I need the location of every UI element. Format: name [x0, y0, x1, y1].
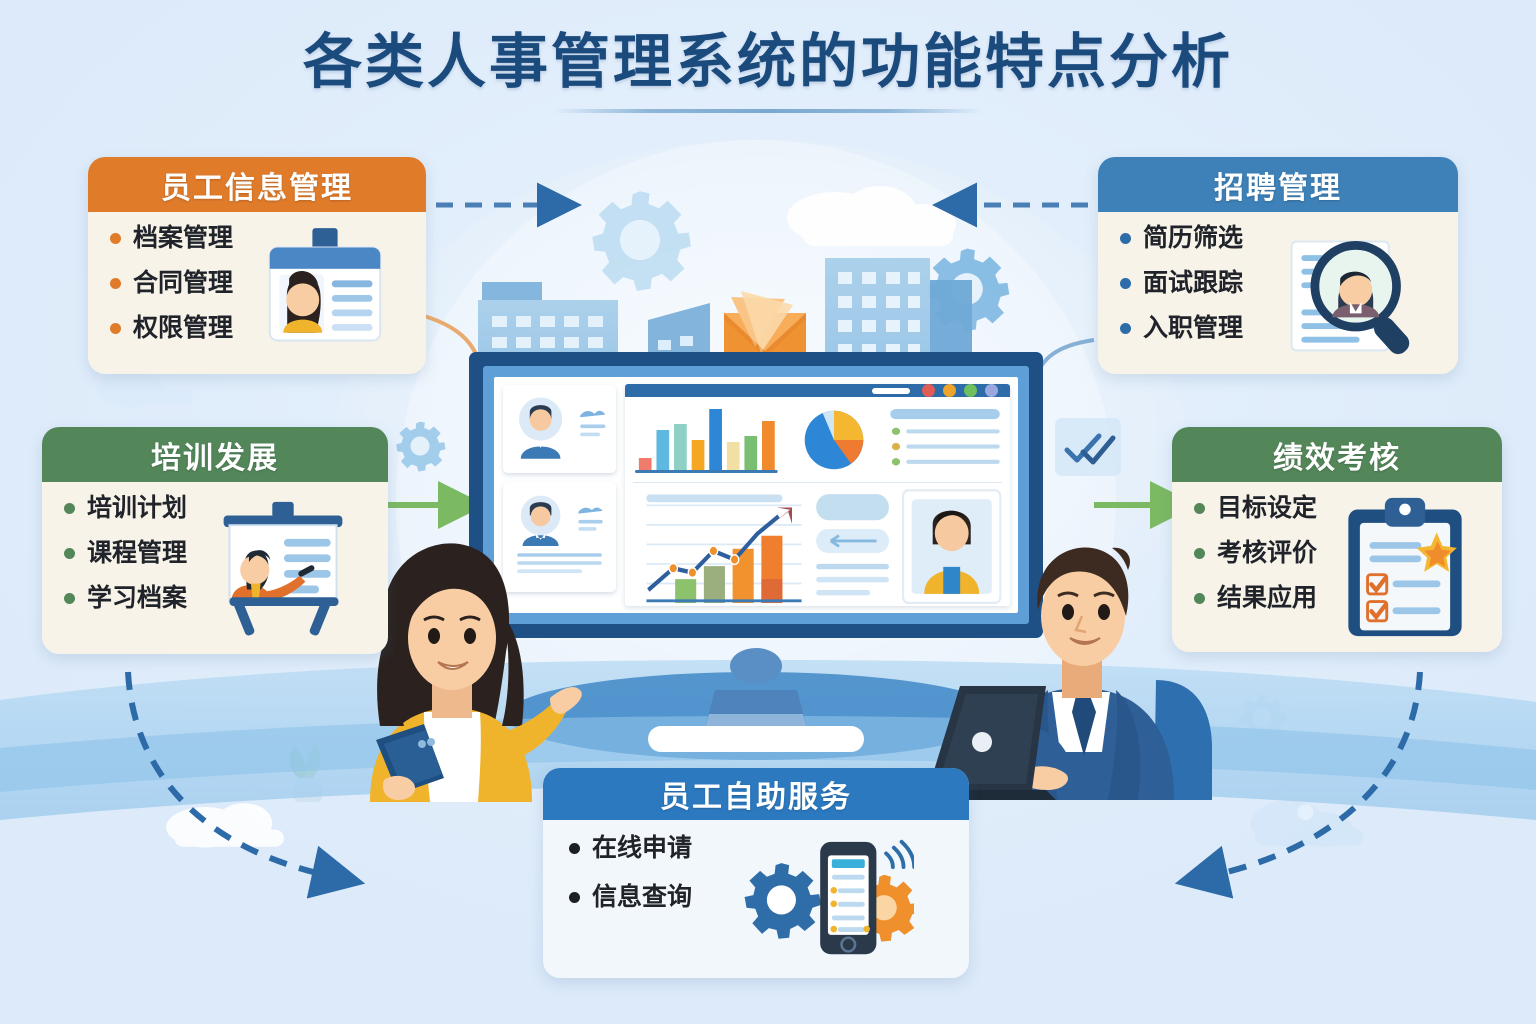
cloud-icon: [1251, 801, 1363, 847]
bullet-text: 档案管理: [133, 226, 233, 251]
list-item[interactable]: 在线申请: [569, 836, 692, 861]
cloud-icon: [166, 803, 284, 847]
bullet-dot: [110, 233, 121, 244]
bullet-text: 权限管理: [133, 316, 233, 341]
card-training[interactable]: 培训发展 培训计划 课程管理 学习档案: [42, 427, 388, 654]
whiteboard-trainer-icon: [187, 496, 378, 642]
bullet-text: 结果应用: [1217, 586, 1317, 611]
card-recruitment[interactable]: 招聘管理 简历筛选 面试跟踪 入职管理: [1098, 157, 1458, 374]
list-item[interactable]: 课程管理: [64, 541, 187, 566]
list-item[interactable]: 入职管理: [1120, 316, 1243, 341]
bullet-dot: [1120, 323, 1131, 334]
card-performance[interactable]: 绩效考核 目标设定 考核评价 结果应用: [1172, 427, 1502, 652]
bullet-list: 目标设定 考核评价 结果应用: [1194, 496, 1317, 611]
bullet-dot: [110, 278, 121, 289]
card-header: 培训发展: [42, 427, 388, 482]
list-item[interactable]: 简历筛选: [1120, 226, 1243, 251]
window-dot-green[interactable]: [964, 384, 977, 397]
window-dot-orange[interactable]: [943, 384, 956, 397]
bullet-dot: [569, 892, 580, 903]
list-item[interactable]: 面试跟踪: [1120, 271, 1243, 296]
id-badge-icon: [233, 226, 416, 362]
list-item[interactable]: 合同管理: [110, 271, 233, 296]
bullet-text: 培训计划: [87, 496, 187, 521]
checkmark-doc-icon: [1055, 418, 1121, 476]
list-item[interactable]: 权限管理: [110, 316, 233, 341]
list-item[interactable]: 培训计划: [64, 496, 187, 521]
bullet-text: 入职管理: [1143, 316, 1243, 341]
bullet-dot: [1120, 278, 1131, 289]
bullet-text: 目标设定: [1217, 496, 1317, 521]
kpi-blocks: [812, 488, 893, 605]
bullet-dot: [64, 548, 75, 559]
bullet-dot: [569, 843, 580, 854]
bullet-list: 档案管理 合同管理 权限管理: [110, 226, 233, 341]
list-item[interactable]: 档案管理: [110, 226, 233, 251]
page-title-block: 各类人事管理系统的功能特点分析: [0, 30, 1536, 113]
bullet-text: 信息查询: [592, 885, 692, 910]
bullet-text: 合同管理: [133, 271, 233, 296]
card-self-service[interactable]: 员工自助服务 在线申请 信息查询: [543, 768, 969, 978]
bullet-list: 在线申请 信息查询: [569, 836, 692, 934]
bullet-dot: [1120, 233, 1131, 244]
line-chart[interactable]: [633, 488, 805, 605]
bullet-list: 简历筛选 面试跟踪 入职管理: [1120, 226, 1243, 341]
card-employee-info[interactable]: 员工信息管理 档案管理 合同管理 权限管理: [88, 157, 426, 374]
cloud-icon: [96, 371, 193, 407]
bullet-dot: [64, 503, 75, 514]
list-item[interactable]: 目标设定: [1194, 496, 1317, 521]
magnifier-resume-icon: [1243, 226, 1448, 362]
card-body: 目标设定 考核评价 结果应用: [1172, 482, 1502, 652]
dashboard-row-top: [633, 404, 1002, 476]
card-header: 员工信息管理: [88, 157, 426, 212]
clipboard-star-icon: [1317, 496, 1492, 640]
window-address-pill: [872, 388, 910, 394]
pie-chart[interactable]: [788, 404, 880, 476]
bullet-dot: [64, 593, 75, 604]
card-header: 绩效考核: [1172, 427, 1502, 482]
bullet-text: 面试跟踪: [1143, 271, 1243, 296]
legend-list: [888, 404, 1002, 476]
bullet-dot: [1194, 548, 1205, 559]
bullet-text: 学习档案: [87, 586, 187, 611]
window-dot-purple[interactable]: [985, 384, 998, 397]
wifi-icon: [886, 842, 914, 867]
card-title: 招聘管理: [1214, 163, 1342, 207]
list-item[interactable]: 考核评价: [1194, 541, 1317, 566]
mobile-gear-icon: [692, 836, 959, 962]
card-title: 培训发展: [151, 433, 279, 477]
card-title: 员工信息管理: [161, 163, 353, 207]
list-item[interactable]: 信息查询: [569, 885, 692, 910]
list-item[interactable]: 结果应用: [1194, 586, 1317, 611]
bullet-text: 在线申请: [592, 836, 692, 861]
card-body: 档案管理 合同管理 权限管理: [88, 212, 426, 374]
bullet-dot: [1194, 503, 1205, 514]
card-title: 绩效考核: [1273, 433, 1401, 477]
bullet-dot: [110, 323, 121, 334]
infographic-canvas: 各类人事管理系统的功能特点分析: [0, 0, 1536, 1024]
card-header: 招聘管理: [1098, 157, 1458, 212]
bullet-text: 简历筛选: [1143, 226, 1243, 251]
title-underline: [553, 109, 983, 113]
bullet-text: 课程管理: [87, 541, 187, 566]
bar-chart[interactable]: [633, 404, 780, 476]
bullet-text: 考核评价: [1217, 541, 1317, 566]
window-dot-red[interactable]: [922, 384, 935, 397]
card-header: 员工自助服务: [543, 768, 969, 820]
profile-card-icon[interactable]: [503, 385, 616, 473]
card-body: 简历筛选 面试跟踪 入职管理: [1098, 212, 1458, 374]
card-body: 在线申请 信息查询: [543, 820, 969, 978]
card-title: 员工自助服务: [660, 772, 852, 816]
list-item[interactable]: 学习档案: [64, 586, 187, 611]
window-titlebar: [625, 384, 1010, 397]
bullet-dot: [1194, 593, 1205, 604]
bullet-list: 培训计划 课程管理 学习档案: [64, 496, 187, 611]
page-title: 各类人事管理系统的功能特点分析: [0, 30, 1536, 95]
card-body: 培训计划 课程管理 学习档案: [42, 482, 388, 654]
